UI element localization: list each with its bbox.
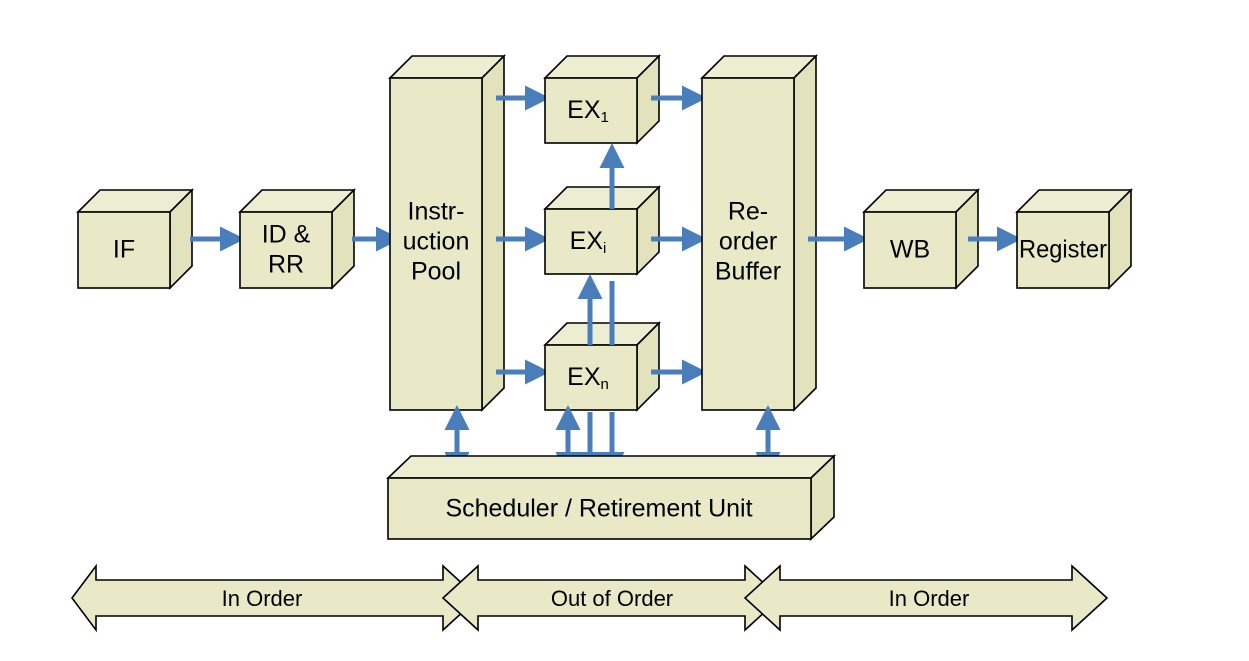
box-id-rr-label-line1: ID & (262, 221, 311, 249)
box-if: IF (78, 190, 192, 288)
box-instruction-pool-label-line1: Instr- (408, 198, 465, 226)
diagram-canvas: IF ID & RR Instr- uction Pool (0, 0, 1249, 661)
box-if-label: IF (113, 236, 135, 264)
box-id-rr: ID & RR (240, 190, 354, 288)
box-scheduler-top (388, 456, 834, 478)
box-reorder-buffer-label-line1: Re- (728, 198, 768, 226)
phase-band-in-order-back-label: In Order (889, 586, 970, 611)
box-reorder-buffer: Re- order Buffer (702, 56, 816, 410)
box-instruction-pool-label-line3: Pool (411, 258, 461, 286)
box-instruction-pool: Instr- uction Pool (390, 56, 504, 410)
box-wb-label: WB (890, 236, 930, 264)
box-reorder-buffer-side (794, 56, 816, 410)
phase-band-in-order-front-label: In Order (222, 586, 303, 611)
box-ex-i-label: EXi (570, 227, 607, 257)
box-id-rr-label-line2: RR (268, 251, 304, 279)
box-ex-1: EX1 (545, 56, 659, 143)
box-wb: WB (864, 190, 978, 288)
box-register-label: Register (1019, 236, 1107, 264)
phase-band-out-of-order-label: Out of Order (551, 586, 673, 611)
box-reorder-buffer-label-line2: order (719, 228, 777, 256)
box-reorder-buffer-label-line3: Buffer (715, 258, 781, 286)
box-ex-i: EXi (545, 187, 659, 274)
box-instruction-pool-side (482, 56, 504, 410)
box-ex-n: EXn (545, 323, 659, 410)
box-scheduler-label: Scheduler / Retirement Unit (445, 495, 752, 523)
box-scheduler-retirement-unit: Scheduler / Retirement Unit (388, 456, 834, 539)
box-register: Register (1017, 190, 1131, 288)
box-instruction-pool-label-line2: uction (403, 228, 470, 256)
pipeline-diagram: IF ID & RR Instr- uction Pool (0, 0, 1249, 661)
